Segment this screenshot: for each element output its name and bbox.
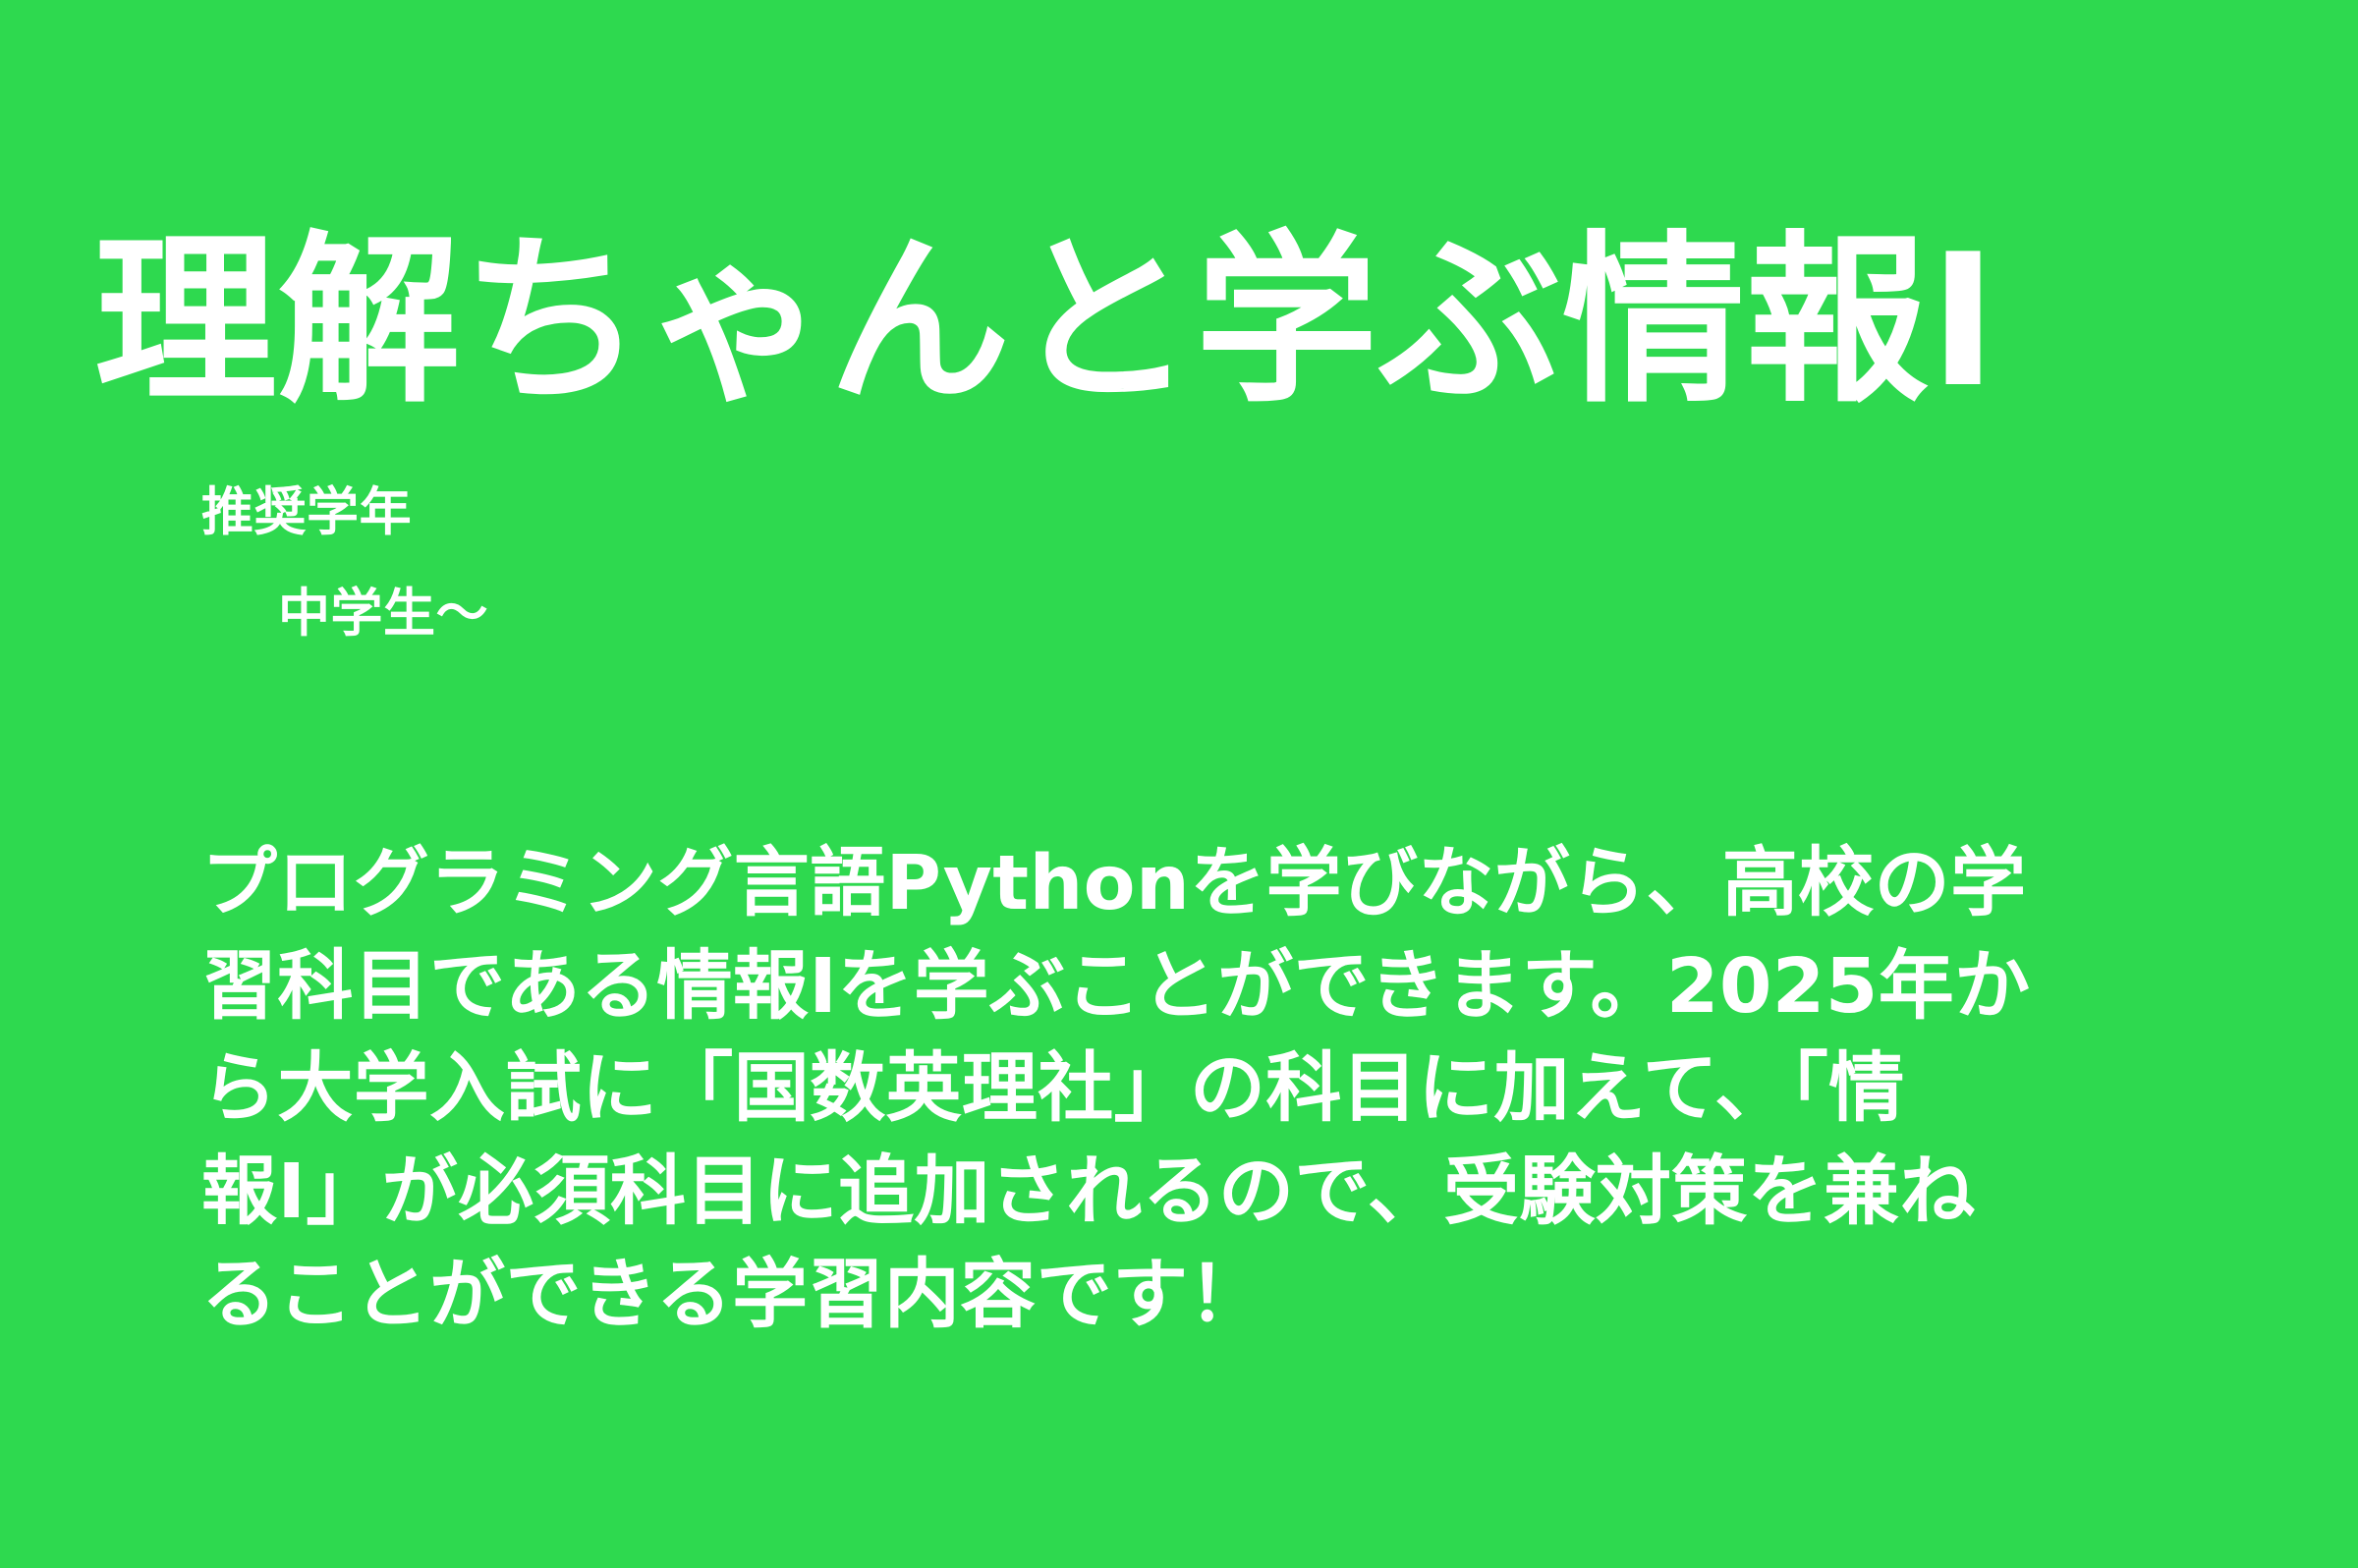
- description-line: 報I」が必須科目に追加されるので、受験対策を兼ね: [201, 1142, 2225, 1245]
- description-line: ら大学入試に「国数英理社」の科目に加えて、「情: [201, 1038, 2225, 1142]
- description-paragraph: プログラミング言語Pythonを学びながら、高校の学 習科目である情報Iを学ぶこ…: [201, 833, 2225, 1348]
- description-line: プログラミング言語Pythonを学びながら、高校の学: [201, 833, 2225, 936]
- recommended-grade-label: 推奨学年: [201, 462, 488, 563]
- recommended-grade-block: 推奨学年 中学生〜: [201, 462, 488, 665]
- recommended-grade-value: 中学生〜: [201, 563, 488, 664]
- description-line: 習科目である情報Iを学ぶことができます。2025年か: [201, 936, 2225, 1039]
- page-title: 理解ちゃんと学ぶ情報I: [94, 217, 2285, 425]
- slide-canvas: 理解ちゃんと学ぶ情報I 推奨学年 中学生〜 プログラミング言語Pythonを学び…: [0, 0, 2358, 1568]
- description-line: ることができる学習内容です！: [201, 1245, 2225, 1348]
